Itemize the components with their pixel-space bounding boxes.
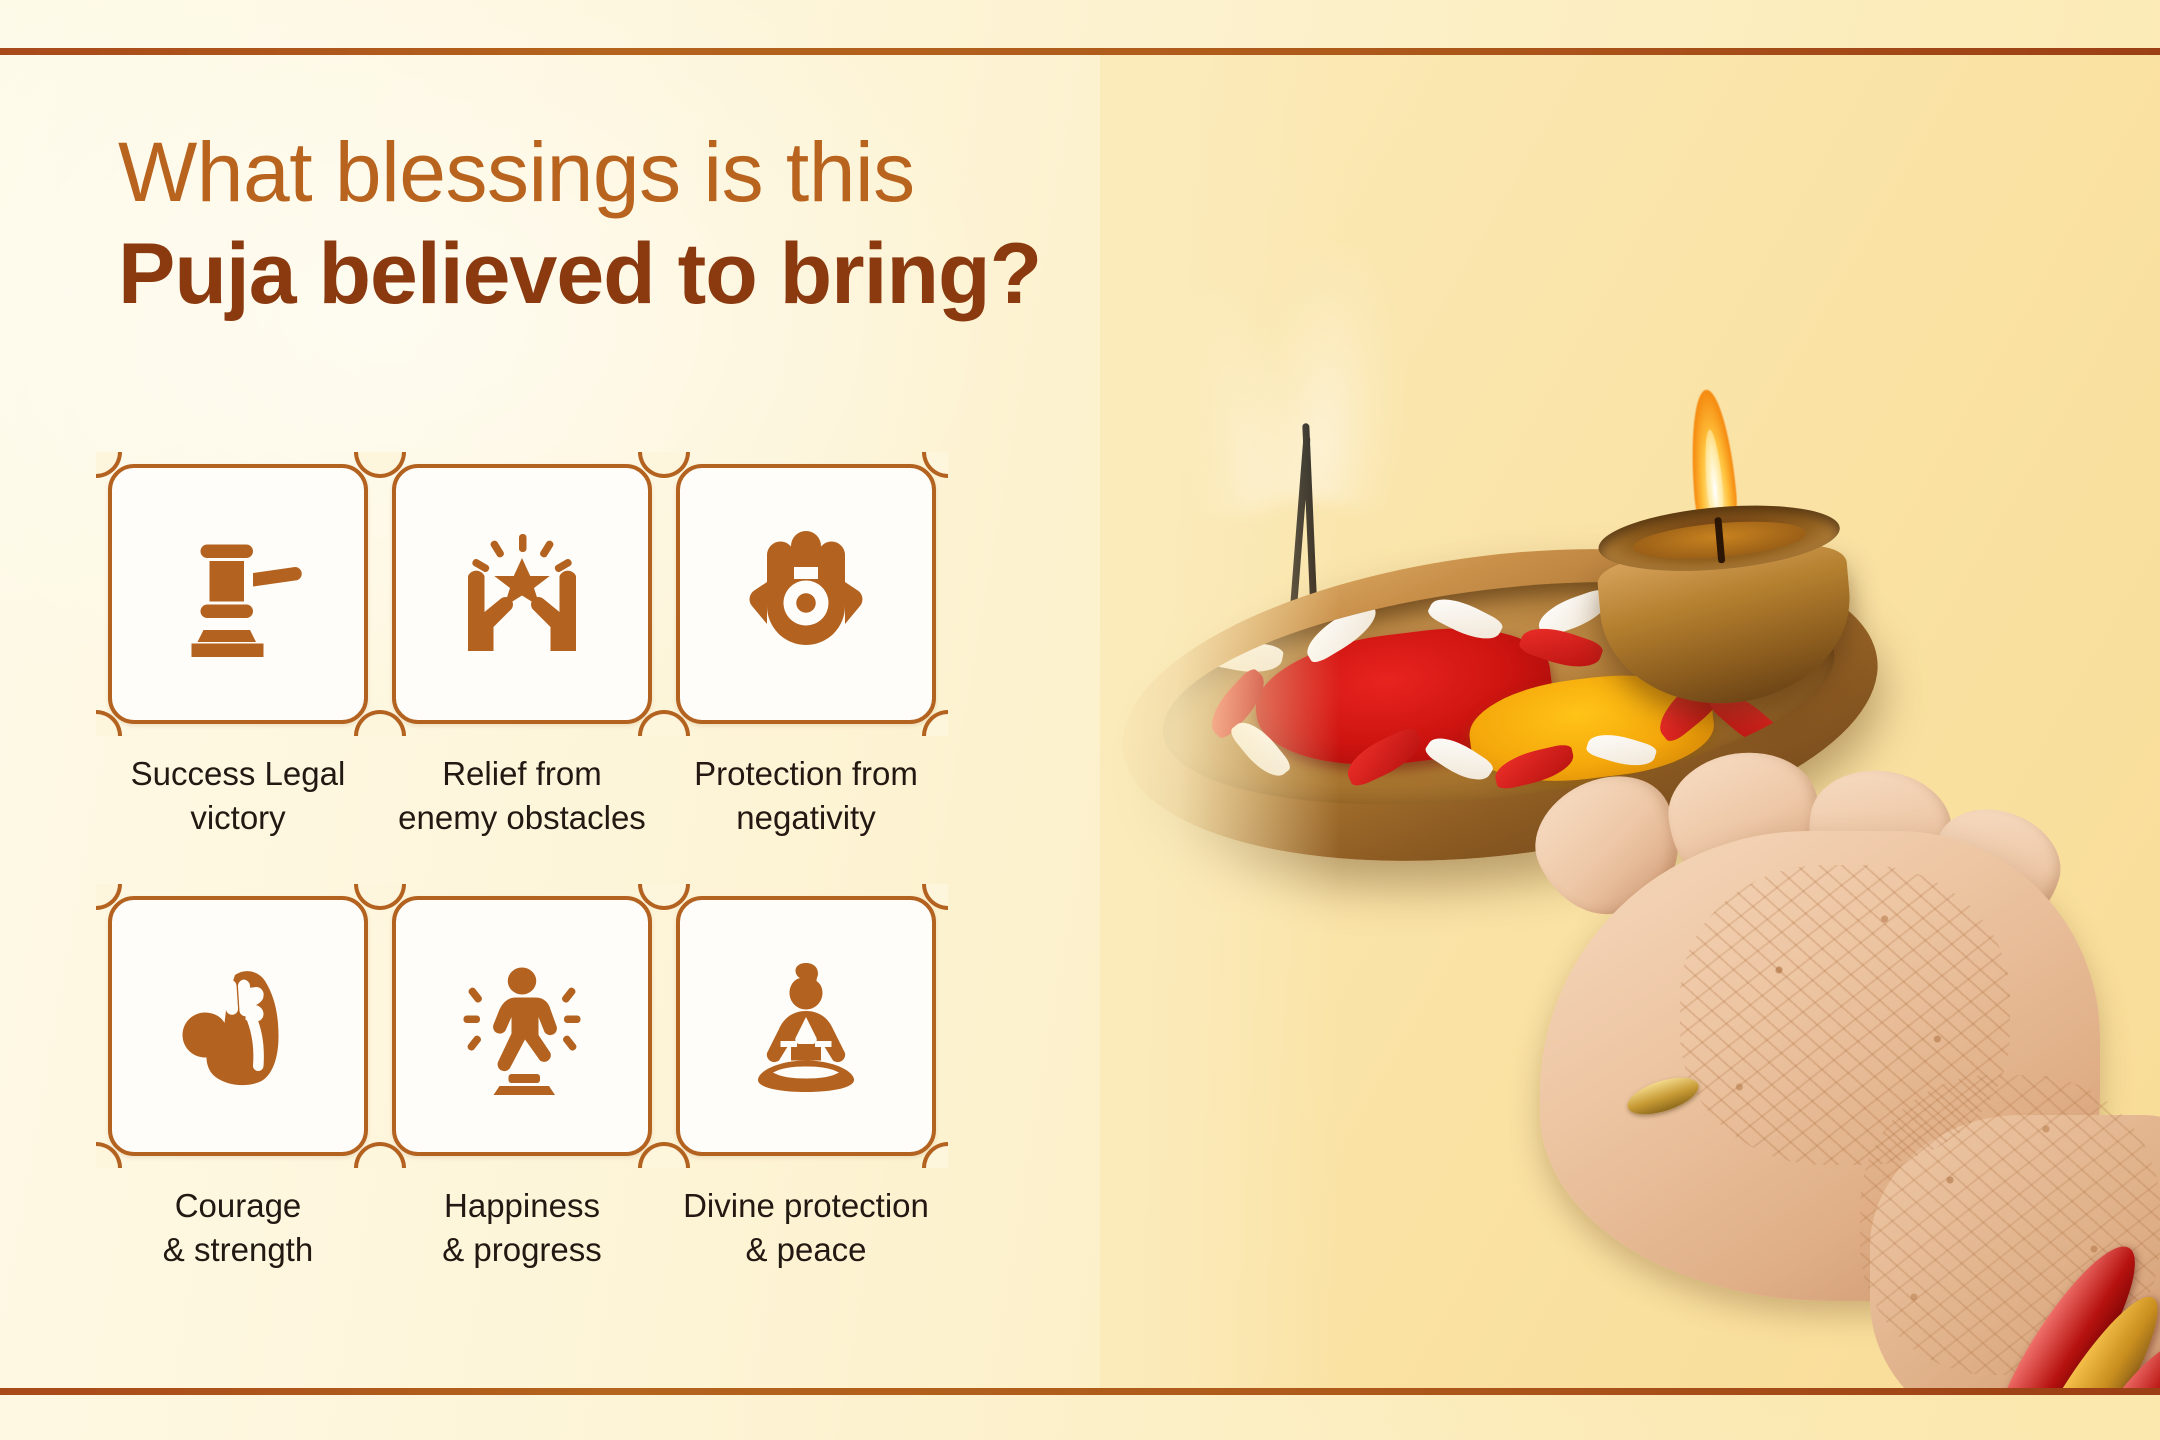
title-line-1: What blessings is this xyxy=(118,128,1041,216)
page-title: What blessings is this Puja believed to … xyxy=(118,128,1041,323)
blessing-icon-card[interactable] xyxy=(676,464,936,724)
blessing-label: Relief from enemy obstacles xyxy=(398,752,646,840)
victory-person-icon xyxy=(447,951,597,1101)
blessing-item[interactable]: Divine protection & peace xyxy=(664,896,948,1272)
blessing-icon-card[interactable] xyxy=(108,464,368,724)
blessing-icon-card[interactable] xyxy=(392,464,652,724)
flexed-bicep-icon xyxy=(163,951,313,1101)
lit-diya-lamp xyxy=(1592,496,1858,713)
blessing-icon-card[interactable] xyxy=(108,896,368,1156)
blessing-item[interactable]: Happiness & progress xyxy=(380,896,664,1272)
meditation-icon xyxy=(731,951,881,1101)
blessing-item[interactable]: Protection from negativity xyxy=(664,464,948,840)
photo-left-fade xyxy=(1100,55,1340,1388)
blessing-item[interactable]: Courage & strength xyxy=(96,896,380,1272)
infographic-canvas: What blessings is this Puja believed to … xyxy=(0,0,2160,1440)
mehndi-hand xyxy=(1430,745,2160,1388)
puja-thali-photo xyxy=(1100,55,2160,1388)
blessing-item[interactable]: Success Legal victory xyxy=(96,464,380,840)
blessing-item[interactable]: Relief from enemy obstacles xyxy=(380,464,664,840)
blessing-icon-card[interactable] xyxy=(392,896,652,1156)
blessing-icon-card[interactable] xyxy=(676,896,936,1156)
blessing-label: Divine protection & peace xyxy=(683,1184,929,1272)
blessings-grid: Success Legal victory xyxy=(96,464,948,1272)
top-divider-rule xyxy=(0,48,2160,55)
blessing-label: Happiness & progress xyxy=(442,1184,602,1272)
blessing-label: Protection from negativity xyxy=(694,752,918,840)
blessing-label: Success Legal victory xyxy=(131,752,346,840)
title-line-2: Puja believed to bring? xyxy=(118,226,1041,322)
gavel-icon xyxy=(163,519,313,669)
hands-star-icon xyxy=(447,519,597,669)
hamsa-hand-icon xyxy=(731,519,881,669)
bottom-divider-rule xyxy=(0,1388,2160,1395)
blessing-label: Courage & strength xyxy=(163,1184,313,1272)
